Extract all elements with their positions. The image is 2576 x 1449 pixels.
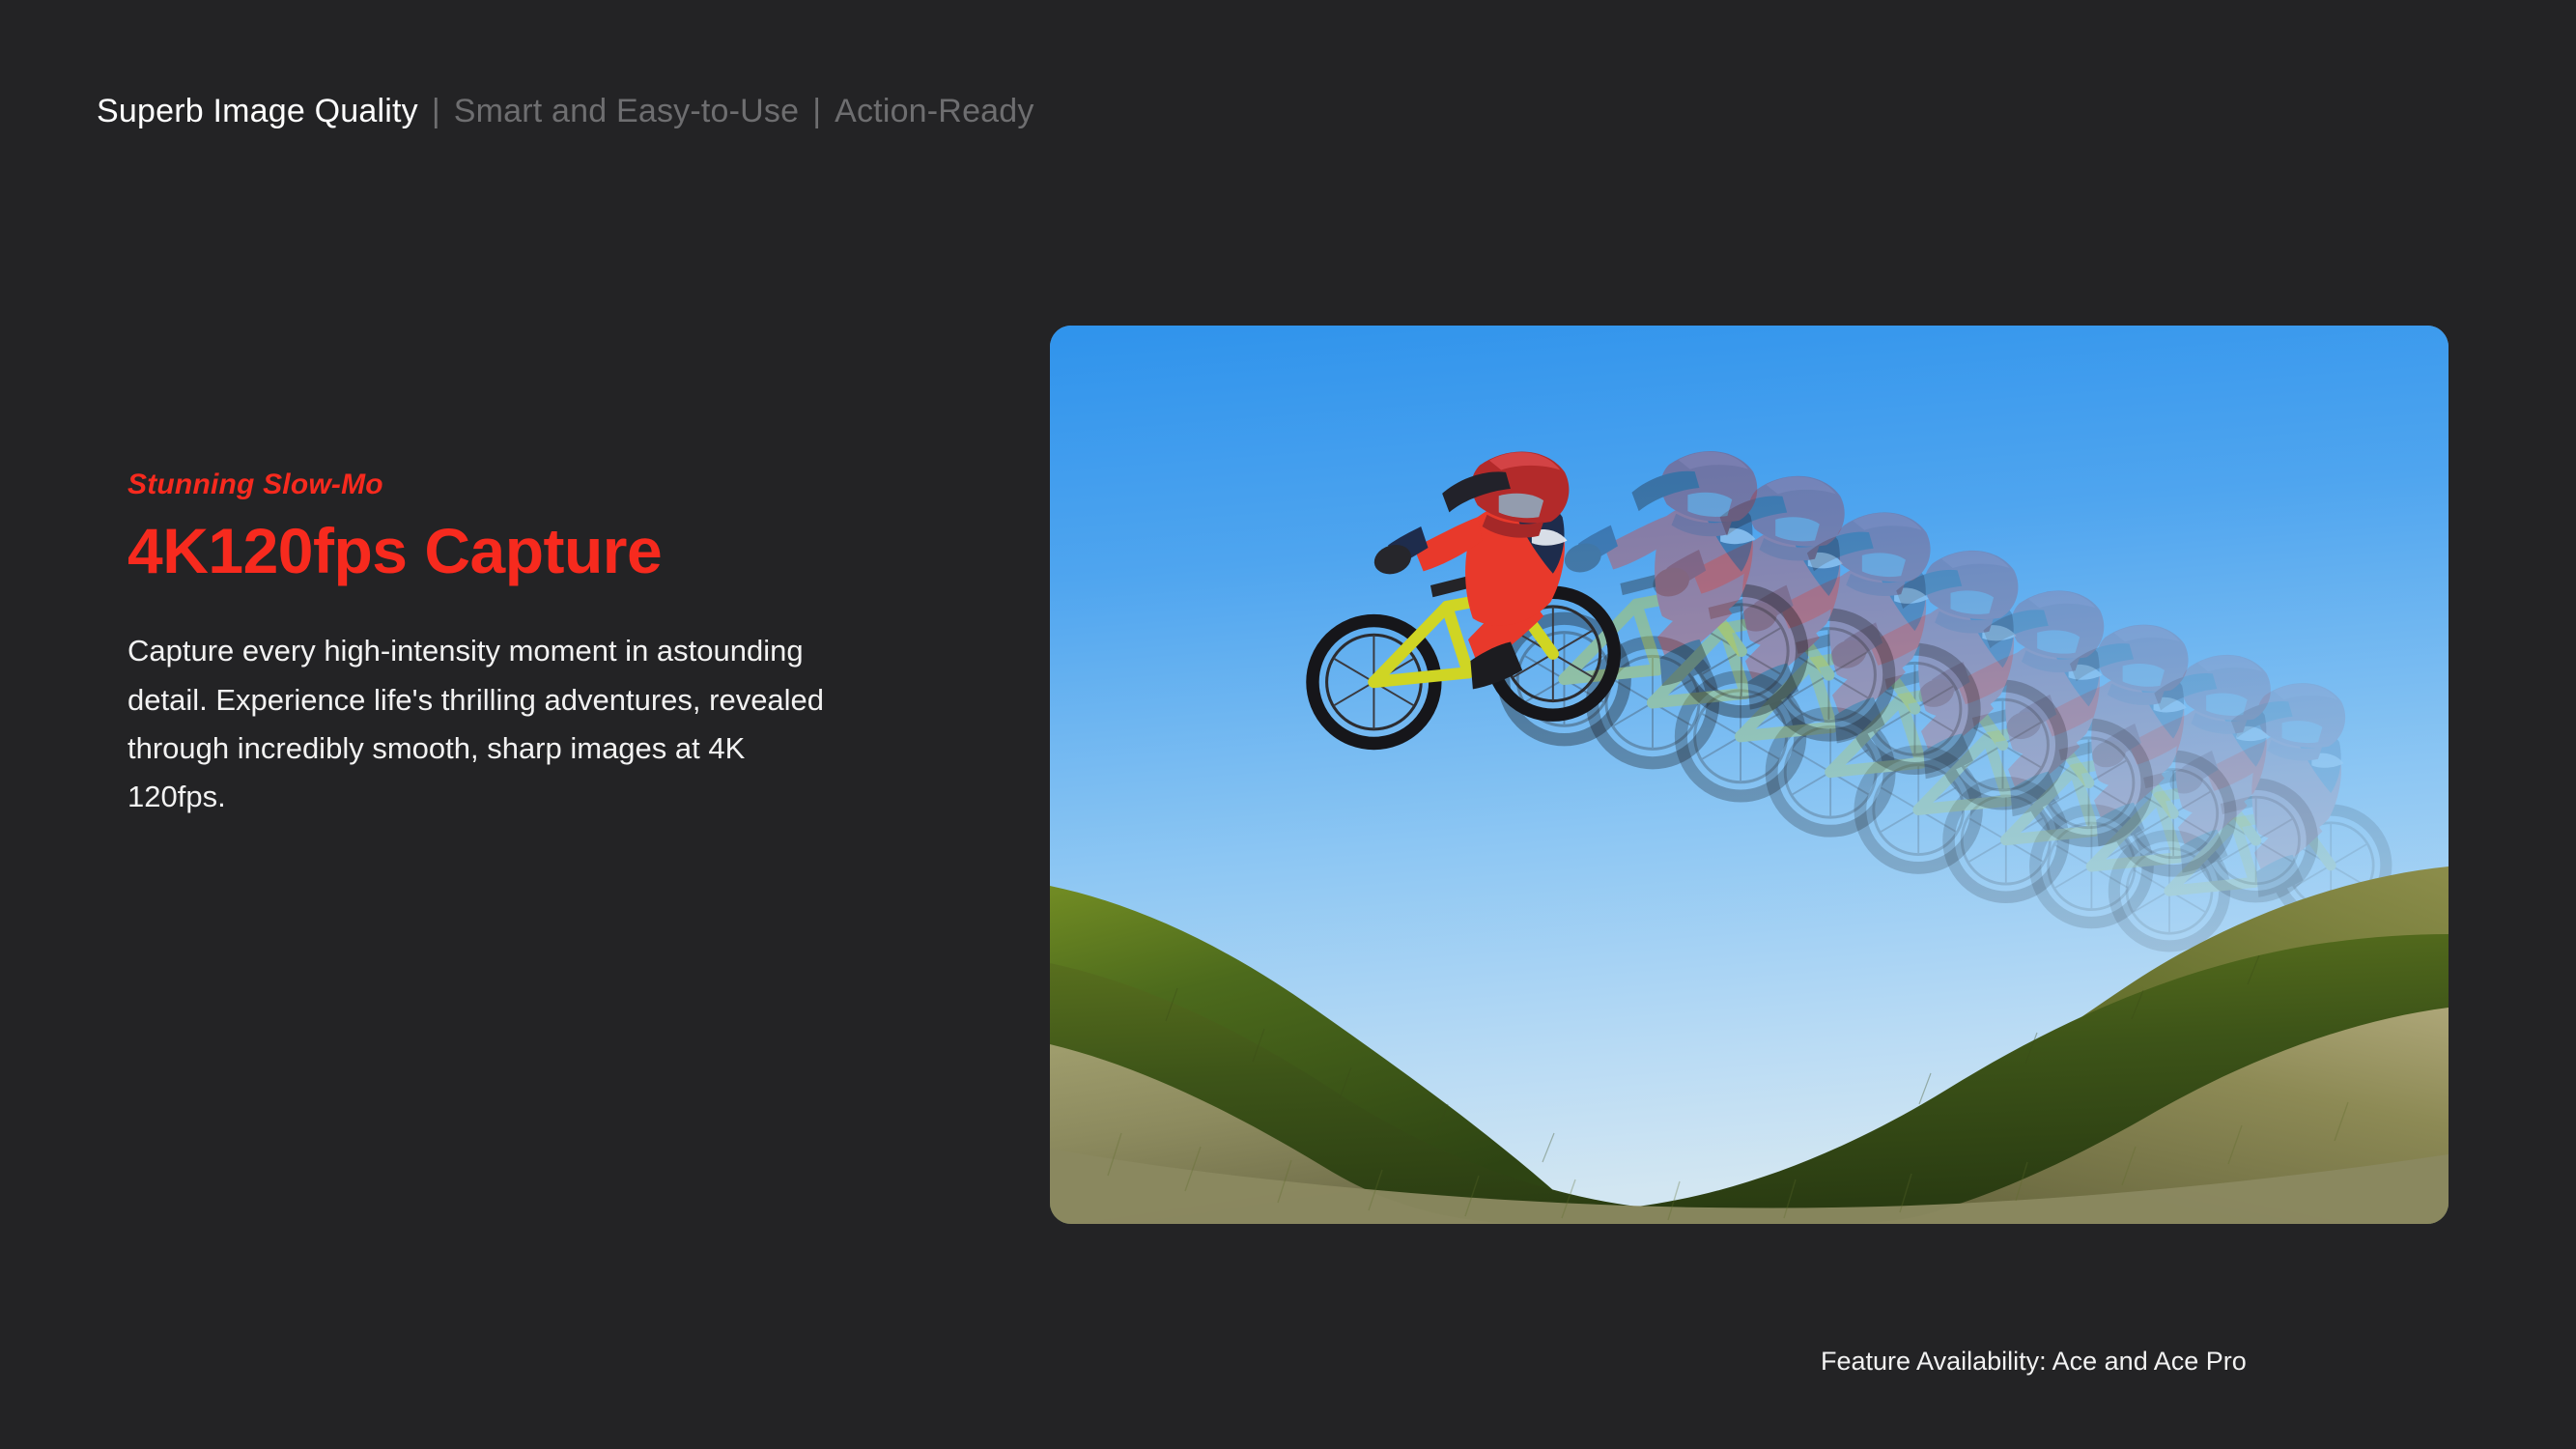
hero-photo-illustration [1050, 326, 2449, 1224]
breadcrumb-separator: | [432, 95, 440, 128]
breadcrumb-separator: | [812, 95, 821, 128]
feature-copy-block: Stunning Slow-Mo 4K120fps Capture Captur… [127, 469, 862, 821]
breadcrumb-item-smart-and-easy-to-use[interactable]: Smart and Easy-to-Use [454, 95, 800, 128]
feature-eyebrow: Stunning Slow-Mo [127, 469, 862, 500]
breadcrumb-item-action-ready[interactable]: Action-Ready [835, 95, 1034, 128]
breadcrumb: Superb Image Quality | Smart and Easy-to… [97, 95, 1034, 128]
feature-availability-note: Feature Availability: Ace and Ace Pro [1821, 1346, 2247, 1377]
breadcrumb-item-superb-image-quality[interactable]: Superb Image Quality [97, 95, 418, 128]
hero-photo [1050, 326, 2449, 1224]
slide-root: Superb Image Quality | Smart and Easy-to… [0, 0, 2576, 1449]
feature-description: Capture every high-intensity moment in a… [127, 627, 833, 821]
page-title: 4K120fps Capture [127, 518, 862, 584]
